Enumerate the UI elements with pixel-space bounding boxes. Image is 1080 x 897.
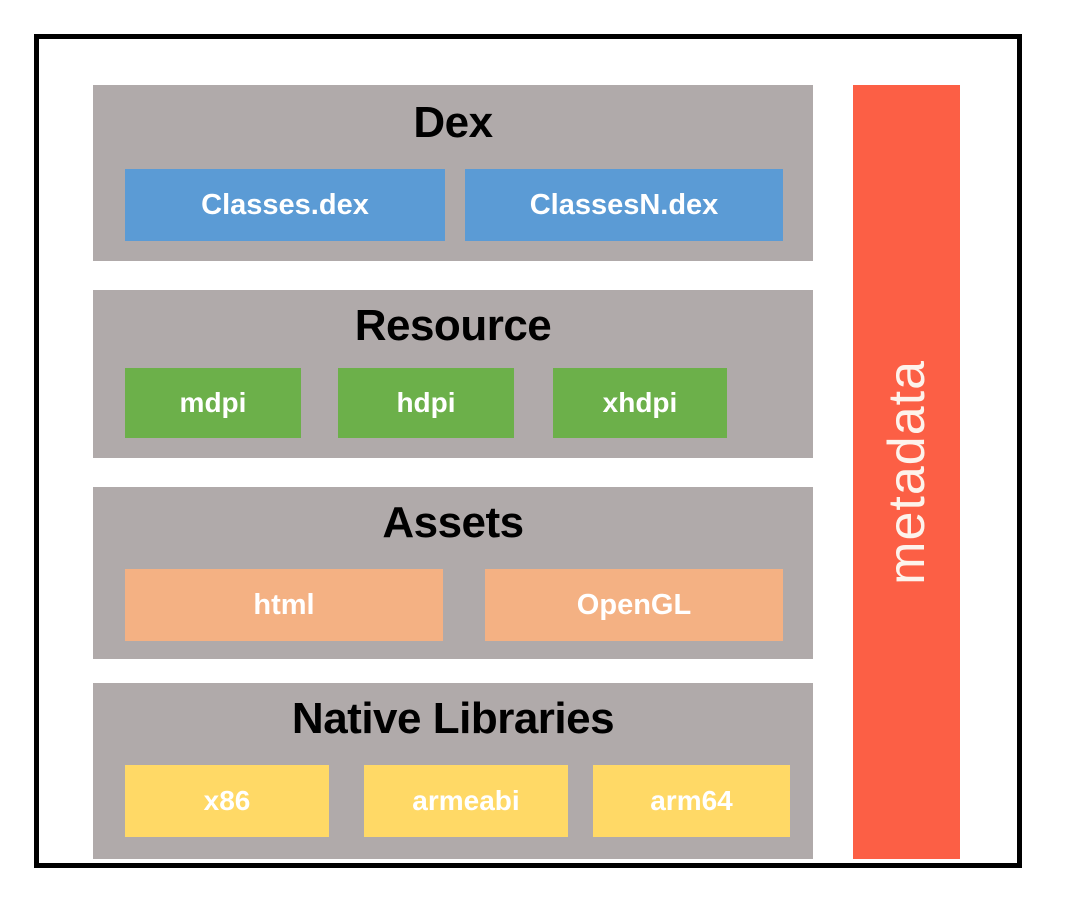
chips-row-dex: Classes.dex ClassesN.dex bbox=[125, 169, 813, 241]
section-title-dex: Dex bbox=[93, 95, 813, 151]
chip-hdpi[interactable]: hdpi bbox=[338, 368, 514, 438]
apk-structure-diagram: Dex Classes.dex ClassesN.dex Resource md… bbox=[0, 0, 1080, 897]
chip-classes-dex[interactable]: Classes.dex bbox=[125, 169, 445, 241]
metadata-bar[interactable]: metadata bbox=[853, 85, 960, 859]
chip-mdpi[interactable]: mdpi bbox=[125, 368, 301, 438]
section-resource: Resource mdpi hdpi xhdpi bbox=[93, 290, 813, 458]
section-dex: Dex Classes.dex ClassesN.dex bbox=[93, 85, 813, 261]
metadata-label: metadata bbox=[881, 360, 933, 585]
chip-html[interactable]: html bbox=[125, 569, 443, 641]
section-assets: Assets html OpenGL bbox=[93, 487, 813, 659]
section-title-native-libraries: Native Libraries bbox=[93, 691, 813, 747]
section-title-resource: Resource bbox=[93, 298, 813, 354]
chips-row-resource: mdpi hdpi xhdpi bbox=[125, 368, 813, 440]
section-title-assets: Assets bbox=[93, 495, 813, 551]
chip-x86[interactable]: x86 bbox=[125, 765, 329, 837]
chips-row-native-libraries: x86 armeabi arm64 bbox=[125, 765, 813, 837]
chip-armeabi[interactable]: armeabi bbox=[364, 765, 568, 837]
chips-row-assets: html OpenGL bbox=[125, 569, 813, 641]
section-native-libraries: Native Libraries x86 armeabi arm64 bbox=[93, 683, 813, 859]
chip-classesn-dex[interactable]: ClassesN.dex bbox=[465, 169, 783, 241]
diagram-frame: Dex Classes.dex ClassesN.dex Resource md… bbox=[34, 34, 1022, 868]
chip-xhdpi[interactable]: xhdpi bbox=[553, 368, 727, 438]
sections-column: Dex Classes.dex ClassesN.dex Resource md… bbox=[93, 85, 813, 859]
chip-arm64[interactable]: arm64 bbox=[593, 765, 790, 837]
chip-opengl[interactable]: OpenGL bbox=[485, 569, 783, 641]
